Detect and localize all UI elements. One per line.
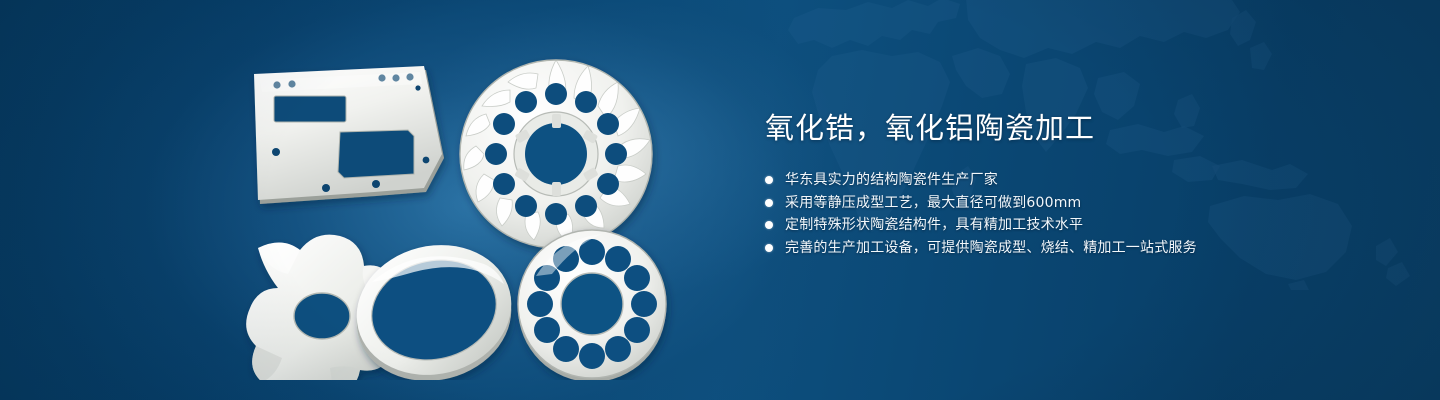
list-item: 定制特殊形状陶瓷结构件，具有精加工技术水平 — [765, 214, 1385, 237]
banner-copy: 氧化锆，氧化铝陶瓷加工 华东具实力的结构陶瓷件生产厂家 采用等静压成型工艺，最大… — [765, 108, 1385, 259]
banner-headline: 氧化锆，氧化铝陶瓷加工 — [765, 108, 1385, 148]
bullet-dot-icon — [765, 199, 773, 207]
list-item: 完善的生产加工设备，可提供陶瓷成型、烧结、精加工一站式服务 — [765, 237, 1385, 260]
bullet-dot-icon — [765, 221, 773, 229]
feature-text: 定制特殊形状陶瓷结构件，具有精加工技术水平 — [785, 214, 1083, 237]
feature-text: 完善的生产加工设备，可提供陶瓷成型、烧结、精加工一站式服务 — [785, 237, 1197, 260]
feature-text: 华东具实力的结构陶瓷件生产厂家 — [785, 169, 998, 192]
promotional-banner: 氧化锆，氧化铝陶瓷加工 华东具实力的结构陶瓷件生产厂家 采用等静压成型工艺，最大… — [0, 0, 1440, 400]
bullet-dot-icon — [765, 176, 773, 184]
feature-text: 采用等静压成型工艺，最大直径可做到600mm — [785, 192, 1081, 215]
feature-list: 华东具实力的结构陶瓷件生产厂家 采用等静压成型工艺，最大直径可做到600mm 定… — [765, 169, 1385, 259]
list-item: 采用等静压成型工艺，最大直径可做到600mm — [765, 192, 1385, 215]
list-item: 华东具实力的结构陶瓷件生产厂家 — [765, 169, 1385, 192]
bullet-dot-icon — [765, 244, 773, 252]
